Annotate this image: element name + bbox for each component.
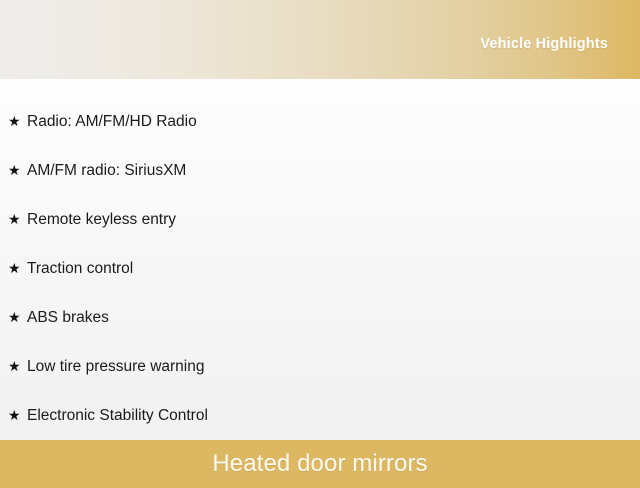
list-item: ★ Traction control [0, 244, 640, 293]
page-footer: Heated door mirrors [0, 440, 640, 488]
highlight-label: Electronic Stability Control [27, 407, 208, 424]
highlight-label: AM/FM radio: SiriusXM [27, 162, 186, 179]
list-item: ★ AM/FM radio: SiriusXM [0, 146, 640, 195]
star-icon: ★ [8, 310, 27, 324]
highlight-label: Traction control [27, 260, 133, 277]
star-icon: ★ [8, 261, 27, 275]
list-item: ★ Radio: AM/FM/HD Radio [0, 97, 640, 146]
highlight-label: Low tire pressure warning [27, 358, 204, 375]
page-title: Vehicle Highlights [480, 37, 608, 52]
star-icon: ★ [8, 359, 27, 373]
page-header: Vehicle Highlights [0, 0, 640, 79]
highlight-label: Remote keyless entry [27, 211, 176, 228]
footer-caption: Heated door mirrors [212, 452, 427, 476]
vehicle-highlights-list: ★ Radio: AM/FM/HD Radio ★ AM/FM radio: S… [0, 79, 640, 440]
star-icon: ★ [8, 408, 27, 422]
list-item: ★ Electronic Stability Control [0, 391, 640, 440]
list-item: ★ Remote keyless entry [0, 195, 640, 244]
star-icon: ★ [8, 163, 27, 177]
vehicle-highlights-page: Vehicle Highlights ★ Radio: AM/FM/HD Rad… [0, 0, 640, 480]
list-item: ★ ABS brakes [0, 293, 640, 342]
star-icon: ★ [8, 212, 27, 226]
highlight-label: Radio: AM/FM/HD Radio [27, 113, 197, 130]
star-icon: ★ [8, 114, 27, 128]
list-item: ★ Low tire pressure warning [0, 342, 640, 391]
highlight-label: ABS brakes [27, 309, 109, 326]
